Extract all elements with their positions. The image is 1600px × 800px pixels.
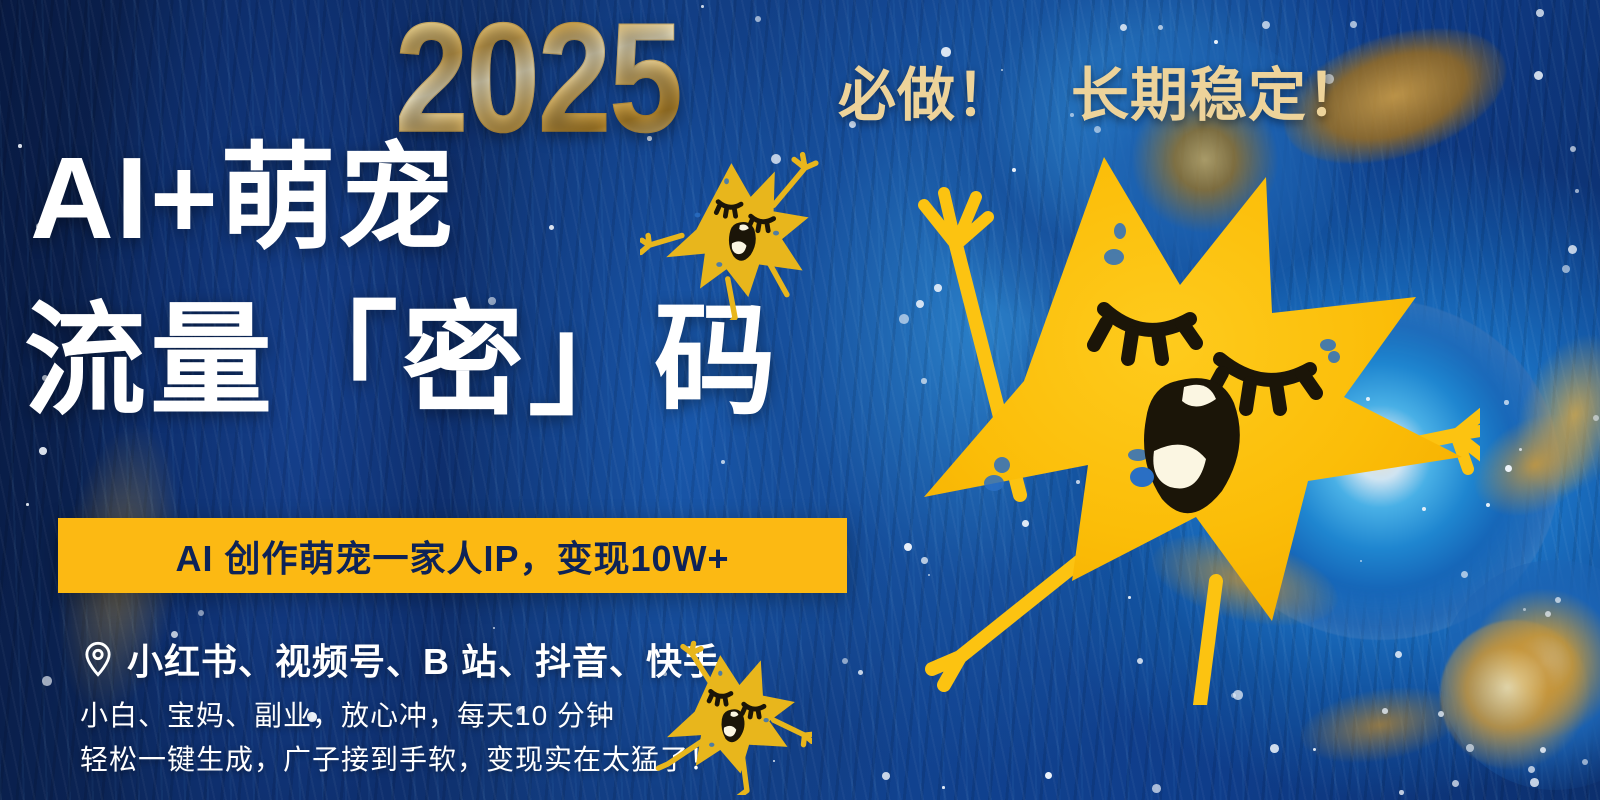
platform-list-text: 小红书、视频号、B 站、抖音、快手 (127, 633, 720, 685)
star-character-medium-svg (640, 145, 830, 320)
tagline: 必做！长期稳定！ (838, 48, 1366, 132)
star-character-medium (640, 145, 830, 320)
star-character-small (652, 640, 812, 795)
star-character-small-svg (652, 640, 812, 795)
location-pin-icon (78, 639, 118, 679)
tagline-left: 必做！ (838, 63, 1015, 128)
star-character-large-svg (880, 125, 1480, 705)
promo-banner: 2025 必做！长期稳定！ AI+萌宠 流量「密」码 AI 创作萌宠一家人IP，… (0, 0, 1600, 800)
highlight-banner-box: AI 创作萌宠一家人IP，变现10W+ (58, 518, 847, 593)
sub-line-1: 小白、宝妈、副业，放心冲，每天10 分钟 (80, 694, 615, 734)
sub-line-2: 轻松一键生成，广子接到手软，变现实在太猛了！ (80, 738, 718, 778)
page-title-line1: AI+萌宠 (30, 140, 456, 256)
highlight-banner-text: AI 创作萌宠一家人IP，变现10W+ (175, 530, 729, 582)
platform-list: 小红书、视频号、B 站、抖音、快手 (78, 633, 720, 685)
tagline-right: 长期稳定！ (1071, 63, 1366, 128)
star-character-large (880, 125, 1480, 705)
